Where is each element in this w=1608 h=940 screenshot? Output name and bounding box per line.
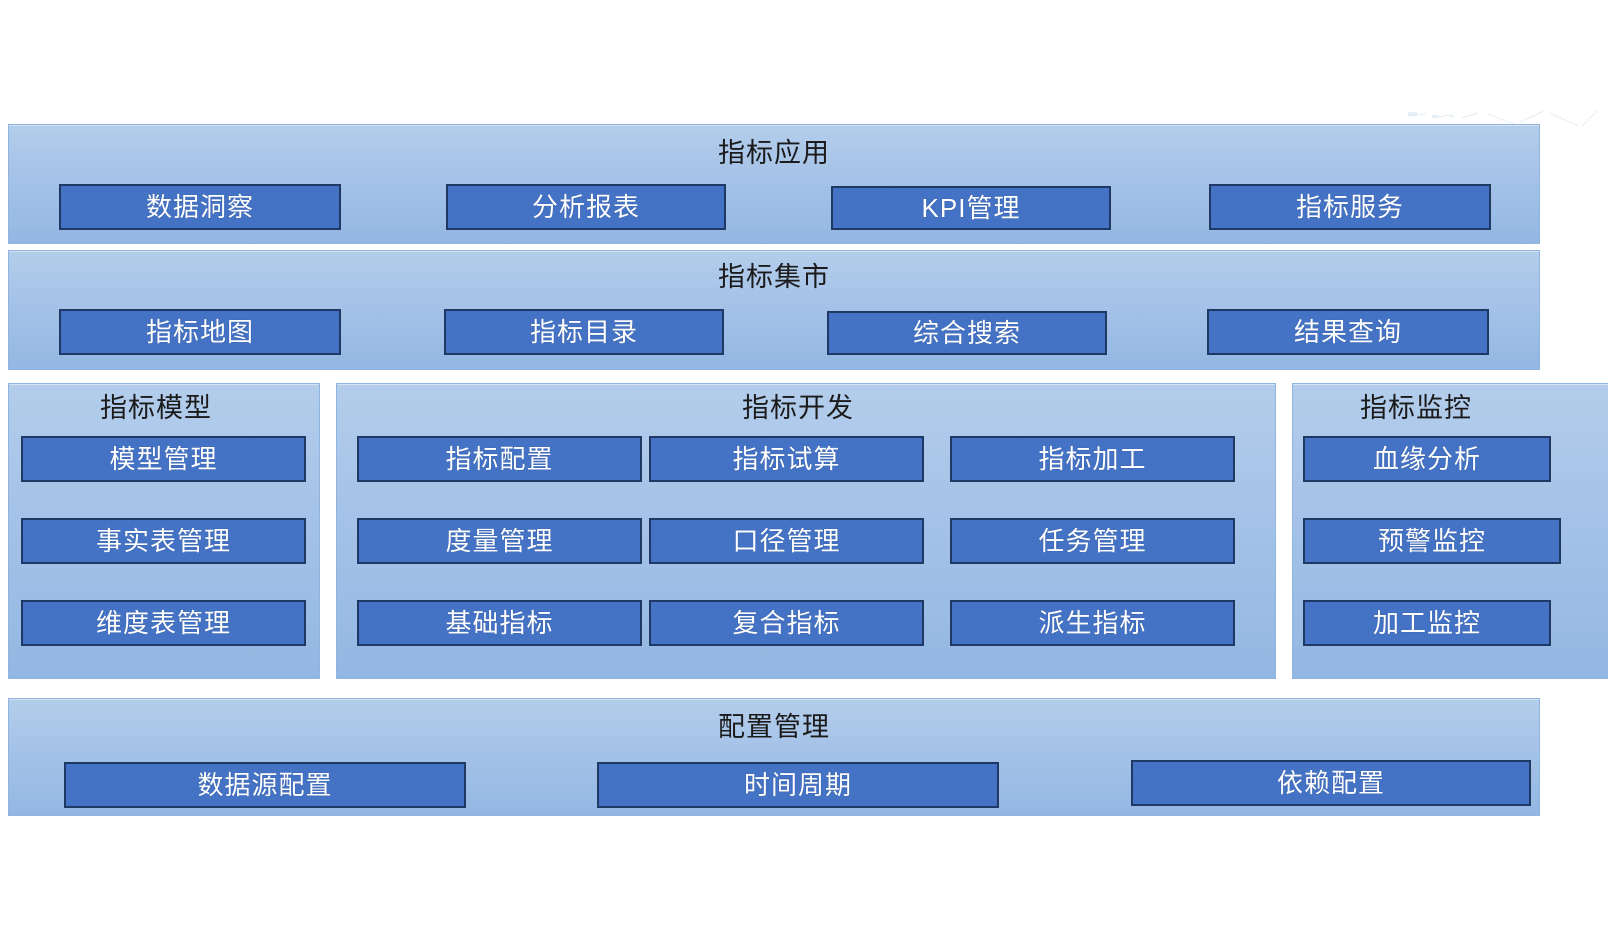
module-button-comprehensive-search[interactable]: 综合搜索 <box>827 311 1107 355</box>
architecture-diagram-canvas: 指标应用 数据洞察 分析报表 KPI管理 指标服务 指标集市 指标地图 指标目录… <box>0 0 1608 940</box>
module-button-task-management[interactable]: 任务管理 <box>950 518 1235 564</box>
layer-title-mart: 指标集市 <box>9 261 1539 293</box>
layer-title-monitor: 指标监控 <box>1293 392 1539 424</box>
module-button-lineage-analysis[interactable]: 血缘分析 <box>1303 436 1551 482</box>
layer-panel-config: 配置管理 数据源配置 时间周期 依赖配置 <box>8 698 1540 816</box>
module-button-indicator-processing[interactable]: 指标加工 <box>950 436 1235 482</box>
module-button-derived-indicator[interactable]: 派生指标 <box>950 600 1235 646</box>
module-button-composite-indicator[interactable]: 复合指标 <box>649 600 924 646</box>
module-button-caliber-management[interactable]: 口径管理 <box>649 518 924 564</box>
layer-panel-monitor: 指标监控 血缘分析 预警监控 加工监控 <box>1292 383 1608 679</box>
module-button-indicator-trial-calc[interactable]: 指标试算 <box>649 436 924 482</box>
module-button-time-period[interactable]: 时间周期 <box>597 762 999 808</box>
module-button-dimension-table-management[interactable]: 维度表管理 <box>21 600 306 646</box>
module-button-kpi-management[interactable]: KPI管理 <box>831 186 1111 230</box>
module-button-indicator-map[interactable]: 指标地图 <box>59 309 341 355</box>
layer-title-model: 指标模型 <box>1 392 311 424</box>
layer-panel-app: 指标应用 数据洞察 分析报表 KPI管理 指标服务 <box>8 124 1540 244</box>
module-button-indicator-service[interactable]: 指标服务 <box>1209 184 1491 230</box>
module-button-indicator-catalog[interactable]: 指标目录 <box>444 309 724 355</box>
module-button-basic-indicator[interactable]: 基础指标 <box>357 600 642 646</box>
module-button-result-query[interactable]: 结果查询 <box>1207 309 1489 355</box>
layer-panel-model: 指标模型 模型管理 事实表管理 维度表管理 <box>8 383 320 679</box>
module-button-analysis-report[interactable]: 分析报表 <box>446 184 726 230</box>
module-button-processing-monitoring[interactable]: 加工监控 <box>1303 600 1551 646</box>
module-button-alert-monitoring[interactable]: 预警监控 <box>1303 518 1561 564</box>
module-button-measure-management[interactable]: 度量管理 <box>357 518 642 564</box>
module-button-datasource-config[interactable]: 数据源配置 <box>64 762 466 808</box>
layer-panel-dev: 指标开发 指标配置 指标试算 指标加工 度量管理 口径管理 任务管理 基础指标 … <box>336 383 1276 679</box>
module-button-dependency-config[interactable]: 依赖配置 <box>1131 760 1531 806</box>
module-button-data-insight[interactable]: 数据洞察 <box>59 184 341 230</box>
layer-title-config: 配置管理 <box>9 711 1539 743</box>
module-button-model-management[interactable]: 模型管理 <box>21 436 306 482</box>
layer-title-dev: 指标开发 <box>329 392 1267 424</box>
layer-title-app: 指标应用 <box>9 137 1539 169</box>
module-button-fact-table-management[interactable]: 事实表管理 <box>21 518 306 564</box>
module-button-indicator-config[interactable]: 指标配置 <box>357 436 642 482</box>
layer-panel-mart: 指标集市 指标地图 指标目录 综合搜索 结果查询 <box>8 250 1540 370</box>
